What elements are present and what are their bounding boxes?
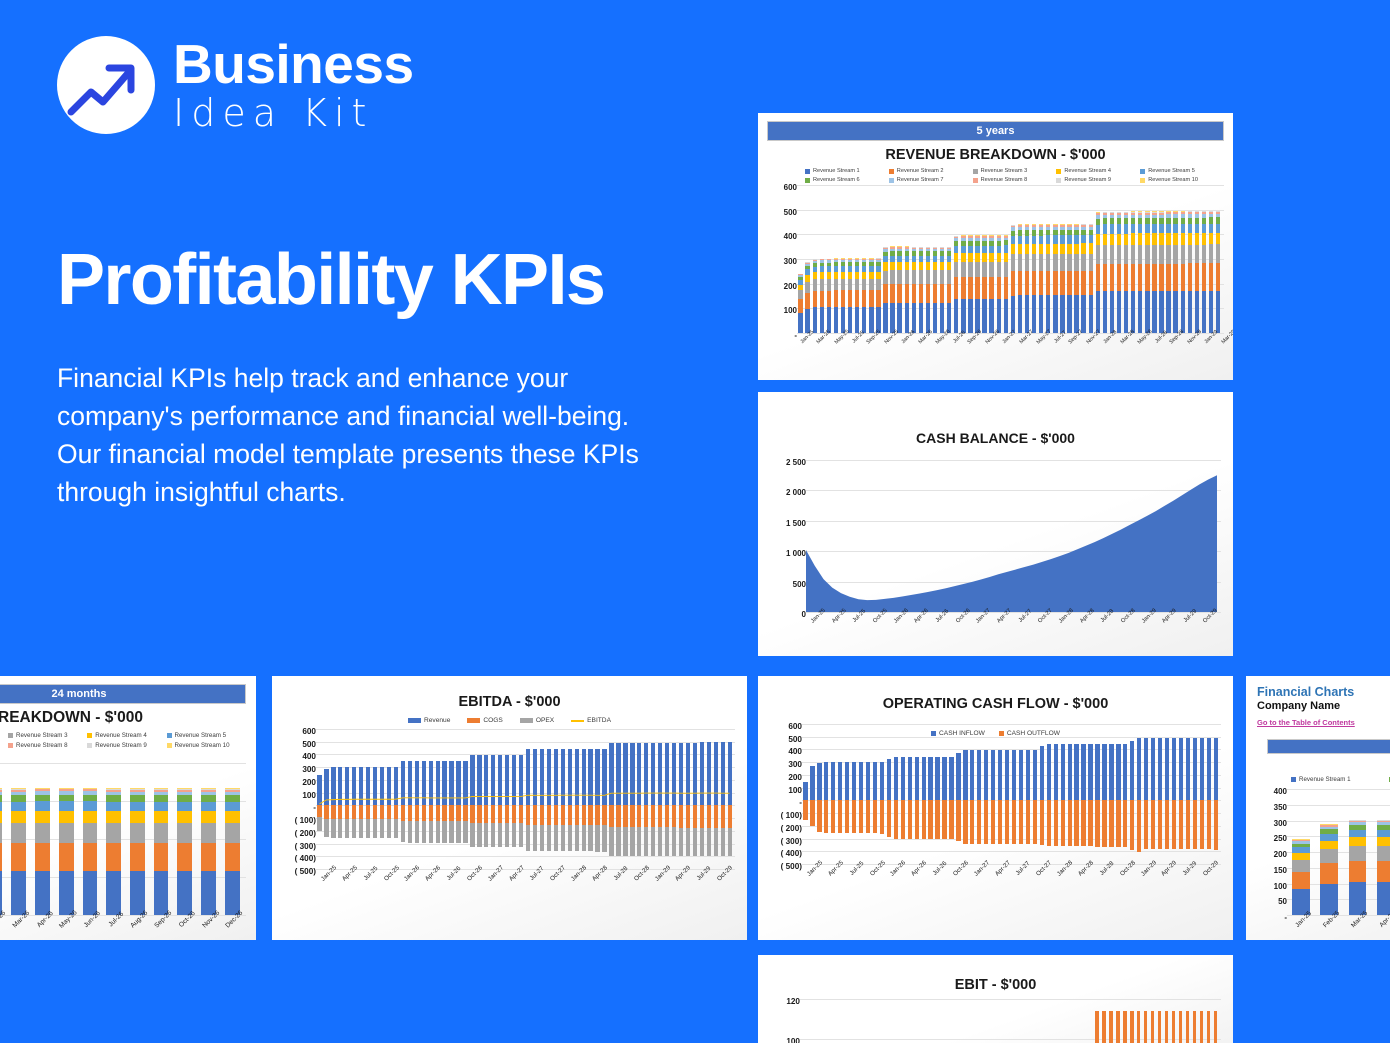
bar-column[interactable]: [399, 729, 406, 869]
bar-column[interactable]: [1191, 999, 1198, 1043]
bar-column[interactable]: [1116, 185, 1123, 333]
bar-column[interactable]: [1108, 185, 1115, 333]
card-financial-charts[interactable]: Financial Charts Company Name Go to the …: [1246, 676, 1390, 940]
bar-column[interactable]: [948, 724, 955, 864]
bar-column[interactable]: [1079, 999, 1086, 1043]
legend-item[interactable]: Revenue Stream 2: [889, 168, 973, 174]
bar-column[interactable]: [7, 763, 31, 915]
bar-column[interactable]: [573, 729, 580, 869]
legend-item[interactable]: OPEX: [520, 717, 554, 724]
legend-item[interactable]: Revenue Stream 10: [167, 742, 246, 749]
bar-column[interactable]: [726, 729, 733, 869]
bar-column[interactable]: [511, 729, 518, 869]
bar-column[interactable]: [990, 724, 997, 864]
bar-column[interactable]: [1066, 724, 1073, 864]
bar-column[interactable]: [1051, 999, 1058, 1043]
bar-column[interactable]: [1208, 185, 1215, 333]
bar-column[interactable]: [830, 724, 837, 864]
card-ebit[interactable]: EBIT - $'000 12010080: [758, 955, 1233, 1043]
bar-column[interactable]: [705, 729, 712, 869]
bar-column[interactable]: [1059, 724, 1066, 864]
legend-item[interactable]: Revenue Stream 9: [1056, 177, 1140, 183]
bar-column[interactable]: [1315, 789, 1343, 915]
bar-column[interactable]: [344, 729, 351, 869]
bar-segment: [1377, 846, 1390, 861]
bar-column[interactable]: [323, 729, 330, 869]
bar-column[interactable]: [955, 724, 962, 864]
bar-column[interactable]: [961, 999, 968, 1043]
bar-column[interactable]: [913, 724, 920, 864]
bar-column[interactable]: [532, 729, 539, 869]
bar-column[interactable]: [1179, 185, 1186, 333]
bar-column[interactable]: [989, 999, 996, 1043]
bar-column[interactable]: [844, 724, 851, 864]
bar-column[interactable]: [149, 763, 173, 915]
legend-item[interactable]: Revenue Stream 3: [8, 732, 87, 739]
bar-column[interactable]: [1128, 999, 1135, 1043]
card-cash-balance[interactable]: CASH BALANCE - $'000 2 5002 0001 5001 00…: [758, 392, 1233, 656]
bar-column[interactable]: [981, 185, 988, 333]
bar-column[interactable]: [1101, 724, 1108, 864]
bar-column[interactable]: [828, 999, 835, 1043]
bar-column[interactable]: [476, 729, 483, 869]
bar-column[interactable]: [896, 185, 903, 333]
bar-column[interactable]: [622, 729, 629, 869]
bar-column[interactable]: [601, 729, 608, 869]
bar-column[interactable]: [885, 724, 892, 864]
bar-column[interactable]: [629, 729, 636, 869]
bar-segment: [883, 271, 887, 284]
bar-column[interactable]: [912, 999, 919, 1043]
bar-column[interactable]: [906, 724, 913, 864]
bar-column[interactable]: [566, 729, 573, 869]
bar-column[interactable]: [1044, 999, 1051, 1043]
bar-column[interactable]: [988, 185, 995, 333]
bar-column[interactable]: [997, 724, 1004, 864]
bar-column[interactable]: [905, 999, 912, 1043]
bar-column[interactable]: [967, 185, 974, 333]
bar-column[interactable]: [1052, 724, 1059, 864]
bar-column[interactable]: [800, 999, 807, 1043]
bar-segment: [926, 270, 930, 283]
bar-column[interactable]: [1094, 724, 1101, 864]
bar-column[interactable]: [1059, 185, 1066, 333]
bar-column[interactable]: [941, 724, 948, 864]
bar-column[interactable]: [974, 185, 981, 333]
bar-column[interactable]: [1052, 185, 1059, 333]
bar-column[interactable]: [884, 999, 891, 1043]
bar-column[interactable]: [1073, 724, 1080, 864]
bar-column[interactable]: [1205, 724, 1212, 864]
bar-column[interactable]: [1018, 724, 1025, 864]
bar-column[interactable]: [1122, 724, 1129, 864]
bar-column[interactable]: [889, 185, 896, 333]
bar-column[interactable]: [698, 729, 705, 869]
bar-column[interactable]: [1009, 185, 1016, 333]
bar-column[interactable]: [462, 729, 469, 869]
bar-column[interactable]: [1135, 999, 1142, 1043]
bar-column[interactable]: [891, 999, 898, 1043]
bar-column[interactable]: [995, 185, 1002, 333]
bar-column[interactable]: [1031, 724, 1038, 864]
bar-column[interactable]: [1215, 185, 1222, 333]
bar-column[interactable]: [1093, 999, 1100, 1043]
y-tick-label: 2 500: [774, 458, 806, 467]
bar-column[interactable]: [1137, 185, 1144, 333]
bar-column[interactable]: [910, 185, 917, 333]
bar-column[interactable]: [0, 763, 7, 915]
bar-column[interactable]: [858, 724, 865, 864]
bar-column[interactable]: [839, 185, 846, 333]
bar-column[interactable]: [835, 999, 842, 1043]
bar-column[interactable]: [594, 729, 601, 869]
bar-column[interactable]: [330, 729, 337, 869]
bar-segment: [1039, 236, 1043, 244]
bar-column[interactable]: [1066, 185, 1073, 333]
bar-column[interactable]: [1037, 999, 1044, 1043]
bar-column[interactable]: [615, 729, 622, 869]
bar-column[interactable]: [102, 763, 126, 915]
bar-column[interactable]: [448, 729, 455, 869]
bar-column[interactable]: [365, 729, 372, 869]
bar-column[interactable]: [847, 185, 854, 333]
bar-column[interactable]: [926, 999, 933, 1043]
legend-item[interactable]: Revenue Stream 4: [87, 732, 166, 739]
bar-column[interactable]: [434, 729, 441, 869]
bar-column[interactable]: [636, 729, 643, 869]
bar-column[interactable]: [386, 729, 393, 869]
bar-column[interactable]: [983, 724, 990, 864]
bar-column[interactable]: [664, 729, 671, 869]
bar-column[interactable]: [392, 729, 399, 869]
bar-column[interactable]: [441, 729, 448, 869]
bar-column[interactable]: [962, 724, 969, 864]
bar-column[interactable]: [1163, 999, 1170, 1043]
bar-column[interactable]: [587, 729, 594, 869]
bar-column[interactable]: [919, 999, 926, 1043]
bar-column[interactable]: [807, 999, 814, 1043]
legend-item[interactable]: Revenue Stream 5: [167, 732, 246, 739]
bar-column[interactable]: [719, 729, 726, 869]
bar-column[interactable]: [1136, 724, 1143, 864]
bar-segment-positive: [866, 762, 870, 801]
bar-column[interactable]: [1045, 185, 1052, 333]
bar-column[interactable]: [861, 185, 868, 333]
bar-column[interactable]: [870, 999, 877, 1043]
bar-column[interactable]: [420, 729, 427, 869]
bar-column[interactable]: [1287, 789, 1315, 915]
bar-column[interactable]: [406, 729, 413, 869]
bar-column[interactable]: [1031, 185, 1038, 333]
bar-column[interactable]: [1025, 724, 1032, 864]
bar-column[interactable]: [1144, 185, 1151, 333]
bar-column[interactable]: [1184, 724, 1191, 864]
bar-column[interactable]: [1123, 185, 1130, 333]
bar-column[interactable]: [1094, 185, 1101, 333]
bar-column[interactable]: [832, 185, 839, 333]
bar-column[interactable]: [1172, 185, 1179, 333]
bar-column[interactable]: [539, 729, 546, 869]
bar-column[interactable]: [1108, 724, 1115, 864]
bar-column[interactable]: [960, 185, 967, 333]
bar-column[interactable]: [1107, 999, 1114, 1043]
legend-item[interactable]: Revenue Stream 8: [973, 177, 1057, 183]
bar-column[interactable]: [1198, 999, 1205, 1043]
bar-column[interactable]: [816, 724, 823, 864]
bar-column[interactable]: [525, 729, 532, 869]
bar-column[interactable]: [863, 999, 870, 1043]
bar-column[interactable]: [1200, 185, 1207, 333]
bar-column[interactable]: [1086, 999, 1093, 1043]
bar-column[interactable]: [1065, 999, 1072, 1043]
legend-color-swatch: [520, 718, 533, 723]
bar-column[interactable]: [650, 729, 657, 869]
bar-segment: [1110, 224, 1114, 233]
bar-column[interactable]: [1080, 724, 1087, 864]
bar-column[interactable]: [372, 729, 379, 869]
bar-segment: [905, 303, 909, 333]
legend-item[interactable]: Revenue Stream 1: [805, 168, 889, 174]
bar-column[interactable]: [1186, 185, 1193, 333]
bar-column[interactable]: [78, 763, 102, 915]
bar-column[interactable]: [996, 999, 1003, 1043]
bar-column[interactable]: [1058, 999, 1065, 1043]
bar-segment-negative: [998, 800, 1002, 843]
bar-column[interactable]: [804, 185, 811, 333]
bar-column[interactable]: [712, 729, 719, 869]
legend-item[interactable]: Revenue Stream 10: [1140, 177, 1224, 183]
bar-column[interactable]: [379, 729, 386, 869]
bar-column[interactable]: [934, 724, 941, 864]
bar-column[interactable]: [316, 729, 323, 869]
bar-column[interactable]: [924, 185, 931, 333]
bar-column[interactable]: [968, 999, 975, 1043]
bar-column[interactable]: [1038, 724, 1045, 864]
bar-column[interactable]: [1115, 724, 1122, 864]
bar-column[interactable]: [358, 729, 365, 869]
bar-column[interactable]: [1130, 185, 1137, 333]
bar-column[interactable]: [1158, 185, 1165, 333]
bar-column[interactable]: [1205, 999, 1212, 1043]
bar-column[interactable]: [1016, 185, 1023, 333]
bar-column[interactable]: [518, 729, 525, 869]
bar-column[interactable]: [337, 729, 344, 869]
bar-column[interactable]: [842, 999, 849, 1043]
bar-column[interactable]: [875, 185, 882, 333]
legend-item[interactable]: Revenue Stream 3: [973, 168, 1057, 174]
bar-column[interactable]: [351, 729, 358, 869]
bar-column[interactable]: [1193, 185, 1200, 333]
bar-column[interactable]: [892, 724, 899, 864]
bar-segment-negative: [1165, 800, 1169, 849]
bar-column[interactable]: [975, 999, 982, 1043]
bar-column[interactable]: [953, 185, 960, 333]
legend-item[interactable]: Revenue Stream 1: [1291, 776, 1389, 783]
bar-column[interactable]: [1072, 999, 1079, 1043]
bar-column[interactable]: [1121, 999, 1128, 1043]
bar-column[interactable]: [1080, 185, 1087, 333]
legend-item[interactable]: Revenue: [408, 717, 450, 724]
bar-column[interactable]: [851, 724, 858, 864]
bar-column[interactable]: [1151, 185, 1158, 333]
bar-column[interactable]: [220, 763, 244, 915]
bar-column[interactable]: [818, 185, 825, 333]
bar-column[interactable]: [1177, 724, 1184, 864]
bar-column[interactable]: [678, 729, 685, 869]
bar-column[interactable]: [898, 999, 905, 1043]
bar-column[interactable]: [685, 729, 692, 869]
bar-column[interactable]: [1024, 999, 1031, 1043]
bar-column[interactable]: [946, 185, 953, 333]
legend-item[interactable]: Revenue Stream 8: [8, 742, 87, 749]
bar-column[interactable]: [1038, 185, 1045, 333]
legend-item[interactable]: EBITDA: [571, 717, 611, 724]
bar-column[interactable]: [825, 185, 832, 333]
bar-column[interactable]: [580, 729, 587, 869]
bar-column[interactable]: [1191, 724, 1198, 864]
bar-column[interactable]: [490, 729, 497, 869]
bar-column[interactable]: [856, 999, 863, 1043]
bar-column[interactable]: [1101, 185, 1108, 333]
bar-segment-positive: [1095, 744, 1099, 800]
bar-segment: [805, 293, 809, 309]
bar-column[interactable]: [939, 185, 946, 333]
bar-column[interactable]: [1343, 789, 1371, 915]
bar-column[interactable]: [1142, 999, 1149, 1043]
bar-column[interactable]: [427, 729, 434, 869]
bar-column[interactable]: [1003, 999, 1010, 1043]
bar-column[interactable]: [854, 185, 861, 333]
card-revenue-breakdown-5-years[interactable]: 5 years REVENUE BREAKDOWN - $'000 Revenu…: [758, 113, 1233, 380]
bar-segment-negative: [831, 800, 835, 833]
bar-column[interactable]: [837, 724, 844, 864]
bar-column[interactable]: [671, 729, 678, 869]
bar-column[interactable]: [878, 724, 885, 864]
bar-column[interactable]: [1164, 724, 1171, 864]
bar-column[interactable]: [497, 729, 504, 869]
bar-column[interactable]: [643, 729, 650, 869]
bar-column[interactable]: [413, 729, 420, 869]
bar-segment-positive: [693, 743, 697, 806]
card-operating-cash-flow[interactable]: OPERATING CASH FLOW - $'000 CASH INFLOWC…: [758, 676, 1233, 940]
bar-column[interactable]: [455, 729, 462, 869]
bar-column[interactable]: [920, 724, 927, 864]
bar-column[interactable]: [1165, 185, 1172, 333]
bar-column[interactable]: [1177, 999, 1184, 1043]
bar-column[interactable]: [1073, 185, 1080, 333]
legend-item[interactable]: Revenue Stream 5: [1140, 168, 1224, 174]
bar-column[interactable]: [821, 999, 828, 1043]
bar-column[interactable]: [125, 763, 149, 915]
bar-column[interactable]: [1170, 999, 1177, 1043]
bar-column[interactable]: [1143, 724, 1150, 864]
bar-column[interactable]: [797, 185, 804, 333]
bar-column[interactable]: [1171, 724, 1178, 864]
bar-column[interactable]: [504, 729, 511, 869]
bar-column[interactable]: [969, 724, 976, 864]
legend-item[interactable]: Revenue Stream 9: [87, 742, 166, 749]
bar-column[interactable]: [1212, 999, 1219, 1043]
bar-column[interactable]: [865, 724, 872, 864]
bar-column[interactable]: [1149, 999, 1156, 1043]
bar-column[interactable]: [1212, 724, 1219, 864]
bar-column[interactable]: [1198, 724, 1205, 864]
bar-column[interactable]: [1087, 724, 1094, 864]
legend-item[interactable]: Revenue Stream 6: [805, 177, 889, 183]
bar-column[interactable]: [545, 729, 552, 869]
bar-column[interactable]: [1011, 724, 1018, 864]
bar-column[interactable]: [608, 729, 615, 869]
bar-column[interactable]: [1100, 999, 1107, 1043]
bar-column[interactable]: [1184, 999, 1191, 1043]
bar-column[interactable]: [872, 724, 879, 864]
bar-column[interactable]: [933, 999, 940, 1043]
bar-column[interactable]: [552, 729, 559, 869]
bar-column[interactable]: [802, 724, 809, 864]
bar-column[interactable]: [173, 763, 197, 915]
bar-column[interactable]: [940, 999, 947, 1043]
bar-column[interactable]: [947, 999, 954, 1043]
bar-column[interactable]: [1004, 724, 1011, 864]
bar-segment-negative: [533, 805, 537, 825]
bar-column[interactable]: [877, 999, 884, 1043]
bar-column[interactable]: [31, 763, 55, 915]
legend-item[interactable]: COGS: [467, 717, 502, 724]
bar-column[interactable]: [982, 999, 989, 1043]
bar-column[interactable]: [657, 729, 664, 869]
bar-column[interactable]: [927, 724, 934, 864]
bar-column[interactable]: [868, 185, 875, 333]
bar-column[interactable]: [197, 763, 221, 915]
bar-column[interactable]: [849, 999, 856, 1043]
bar-column[interactable]: [814, 999, 821, 1043]
bar-column[interactable]: [976, 724, 983, 864]
bar-column[interactable]: [483, 729, 490, 869]
card-ebitda[interactable]: EBITDA - $'000 RevenueCOGSOPEXEBITDA 600…: [272, 676, 747, 940]
bar-column[interactable]: [1002, 185, 1009, 333]
bar-column[interactable]: [691, 729, 698, 869]
legend-item[interactable]: Revenue Stream 7: [889, 177, 973, 183]
bar-column[interactable]: [54, 763, 78, 915]
table-of-contents-link[interactable]: Go to the Table of Contents: [1257, 718, 1355, 727]
bar-column[interactable]: [1045, 724, 1052, 864]
bar-column[interactable]: [1114, 999, 1121, 1043]
bar-column[interactable]: [1024, 185, 1031, 333]
bar-column[interactable]: [917, 185, 924, 333]
bar-column[interactable]: [823, 724, 830, 864]
bar-column[interactable]: [809, 724, 816, 864]
bar-column[interactable]: [899, 724, 906, 864]
legend-item[interactable]: Revenue Stream 4: [1056, 168, 1140, 174]
bar-column[interactable]: [1371, 789, 1390, 915]
bar-column[interactable]: [1017, 999, 1024, 1043]
bar-column[interactable]: [1087, 185, 1094, 333]
card-revenue-breakdown-24-months[interactable]: 24 months REAKDOWN - $'000 Revenue Strea…: [0, 676, 256, 940]
bar-column[interactable]: [1150, 724, 1157, 864]
bar-column[interactable]: [469, 729, 476, 869]
bar-column[interactable]: [882, 185, 889, 333]
bar-column[interactable]: [1010, 999, 1017, 1043]
bar-column[interactable]: [1157, 724, 1164, 864]
bar-column[interactable]: [811, 185, 818, 333]
bar-column[interactable]: [1030, 999, 1037, 1043]
bar-column[interactable]: [903, 185, 910, 333]
bar-column[interactable]: [559, 729, 566, 869]
bar-column[interactable]: [1156, 999, 1163, 1043]
bar-column[interactable]: [954, 999, 961, 1043]
bar-column[interactable]: [931, 185, 938, 333]
bar-column[interactable]: [1129, 724, 1136, 864]
